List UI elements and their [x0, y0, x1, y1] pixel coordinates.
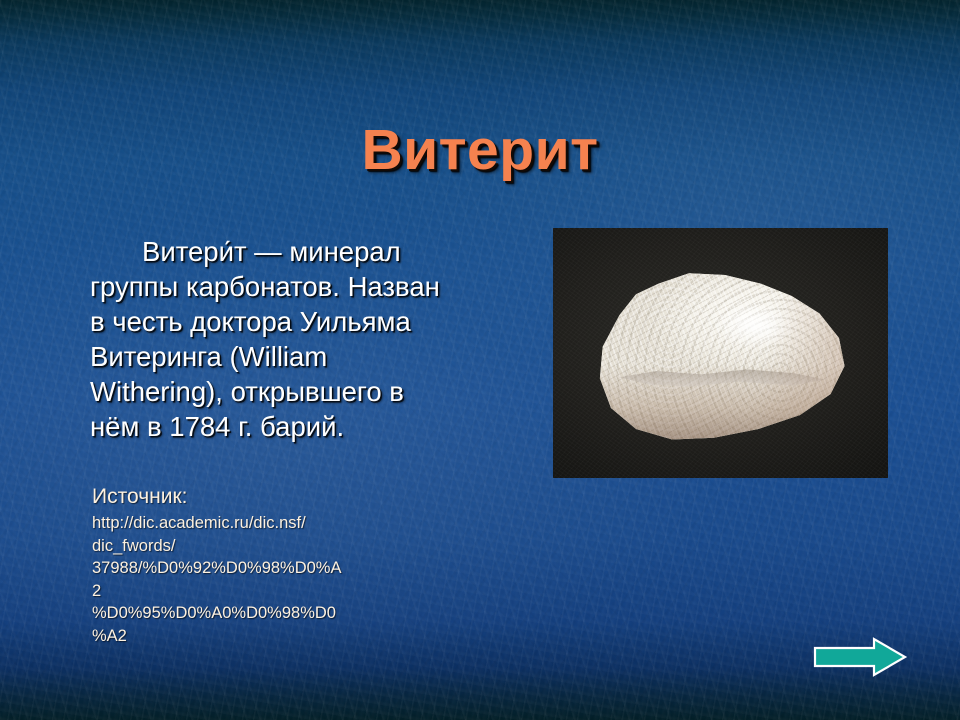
specimen-shading: [586, 268, 864, 443]
source-url-line-1: http://dic.academic.ru/dic.nsf/: [92, 512, 347, 535]
source-url-line-3: 37988/%D0%92%D0%98%D0%A2: [92, 557, 347, 602]
source-url-line-2: dic_fwords/: [92, 535, 347, 558]
source-url: http://dic.academic.ru/dic.nsf/ dic_fwor…: [92, 512, 347, 647]
witherite-specimen: [586, 268, 864, 443]
mineral-photo: [553, 228, 888, 478]
next-slide-button[interactable]: [812, 636, 908, 678]
page-title: Витерит: [0, 116, 960, 184]
source-url-line-4: %D0%95%D0%A0%D0%98%D0: [92, 602, 347, 625]
slide-canvas: Витерит Витери́т — минерал группы карбон…: [0, 0, 960, 720]
arrow-right-icon[interactable]: [812, 636, 908, 678]
source-label: Источник:: [92, 483, 187, 510]
slide-body-text: Витери́т — минерал группы карбонатов. На…: [90, 234, 460, 444]
source-url-line-5: %A2: [92, 625, 347, 648]
